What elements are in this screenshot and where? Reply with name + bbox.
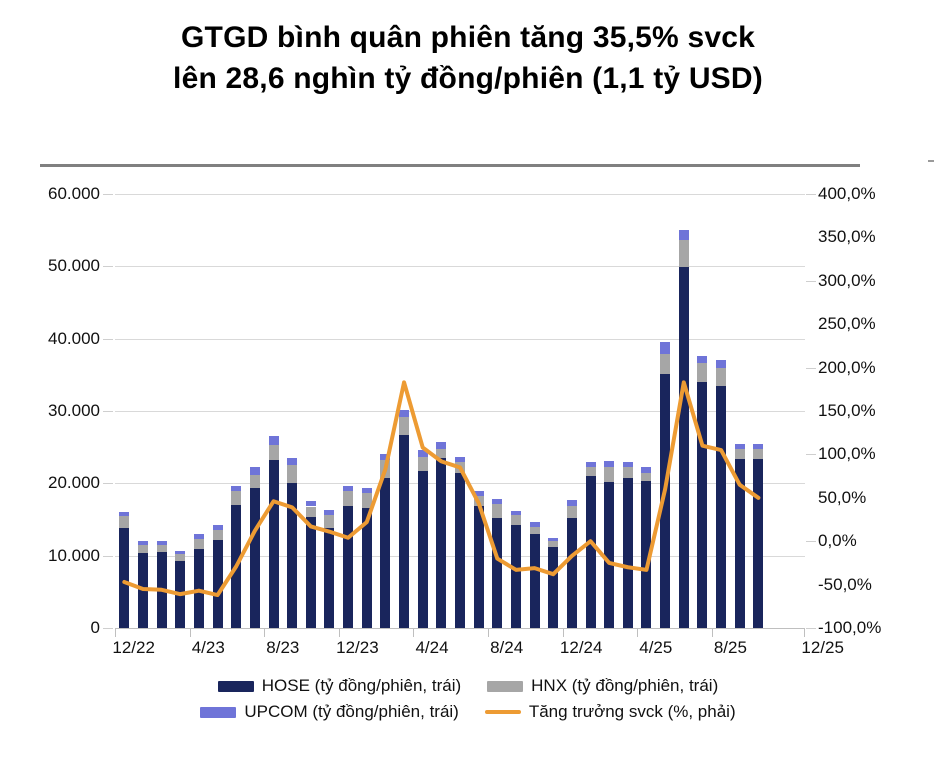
x-tick-label: 12/25: [801, 638, 844, 658]
plot-area: [115, 194, 805, 628]
y-tick-mark-right: [806, 368, 816, 369]
x-tick-label: 8/23: [266, 638, 299, 658]
x-tick-label: 4/23: [192, 638, 225, 658]
page-title: GTGD bình quân phiên tăng 35,5% svck lên…: [0, 18, 936, 99]
title-line-1: GTGD bình quân phiên tăng 35,5% svck: [45, 18, 891, 59]
chart-area: 010.00020.00030.00040.00050.00060.000 -1…: [0, 180, 936, 660]
x-tick-mark: [190, 628, 191, 637]
y-tick-label-right: 400,0%: [818, 184, 876, 204]
legend-swatch-hnx-icon: [487, 681, 523, 692]
growth-line: [124, 382, 758, 595]
y-tick-label-right: 150,0%: [818, 401, 876, 421]
y-tick-mark-right: [806, 454, 816, 455]
x-tick-mark: [637, 628, 638, 637]
legend-row-2: UPCOM (tỷ đồng/phiên, trái)Tăng trưởng s…: [0, 702, 936, 722]
y-tick-label-right: 350,0%: [818, 227, 876, 247]
legend-label: HOSE (tỷ đồng/phiên, trái): [262, 676, 461, 696]
y-tick-mark-left: [103, 339, 113, 340]
legend-label: Tăng trưởng svck (%, phải): [529, 702, 736, 722]
y-tick-label-right: 100,0%: [818, 444, 876, 464]
legend-label: UPCOM (tỷ đồng/phiên, trái): [244, 702, 458, 722]
x-tick-mark: [804, 628, 805, 637]
x-tick-mark: [339, 628, 340, 637]
legend-item-upcom[interactable]: UPCOM (tỷ đồng/phiên, trái): [200, 702, 458, 722]
y-tick-mark-left: [103, 411, 113, 412]
y-tick-mark-left: [103, 556, 113, 557]
y-tick-mark-right: [806, 541, 816, 542]
title-line-2: lên 28,6 nghìn tỷ đồng/phiên (1,1 tỷ USD…: [45, 59, 891, 100]
x-tick-mark: [413, 628, 414, 637]
legend-item-hnx[interactable]: HNX (tỷ đồng/phiên, trái): [487, 676, 718, 696]
legend-swatch-upcom-icon: [200, 707, 236, 718]
legend-swatch-growth-icon: [485, 710, 521, 714]
y-tick-label-right: -50,0%: [818, 575, 872, 595]
x-tick-mark: [264, 628, 265, 637]
legend-item-growth[interactable]: Tăng trưởng svck (%, phải): [485, 702, 736, 722]
x-tick-label: 8/25: [714, 638, 747, 658]
y-tick-mark-right: [806, 281, 816, 282]
y-tick-label-left: 30.000: [48, 401, 100, 421]
chart-page: GTGD bình quân phiên tăng 35,5% svck lên…: [0, 0, 936, 772]
y-tick-mark-right: [806, 194, 816, 195]
legend-item-hose[interactable]: HOSE (tỷ đồng/phiên, trái): [218, 676, 461, 696]
y-tick-label-right: 300,0%: [818, 271, 876, 291]
x-tick-label: 12/24: [560, 638, 603, 658]
x-tick-mark: [115, 628, 116, 637]
growth-line-layer: [115, 194, 805, 628]
y-tick-mark-left: [103, 194, 113, 195]
y-axis-left: 010.00020.00030.00040.00050.00060.000: [0, 194, 100, 628]
x-tick-label: 12/22: [112, 638, 155, 658]
y-tick-label-left: 20.000: [48, 473, 100, 493]
y-tick-label-left: 10.000: [48, 546, 100, 566]
x-tick-mark: [488, 628, 489, 637]
chart-legend: HOSE (tỷ đồng/phiên, trái)HNX (tỷ đồng/p…: [0, 676, 936, 728]
x-tick-mark: [712, 628, 713, 637]
y-tick-label-left: 60.000: [48, 184, 100, 204]
x-tick-label: 12/23: [336, 638, 379, 658]
y-tick-label-right: 0,0%: [818, 531, 857, 551]
x-tick-label: 8/24: [490, 638, 523, 658]
y-tick-label-left: 0: [91, 618, 100, 638]
y-axis-right: -100,0%-50,0%0,0%50,0%100,0%150,0%200,0%…: [818, 194, 936, 628]
legend-swatch-hose-icon: [218, 681, 254, 692]
y-tick-label-right: -100,0%: [818, 618, 881, 638]
y-tick-label-right: 50,0%: [818, 488, 866, 508]
x-tick-mark: [563, 628, 564, 637]
y-tick-mark-left: [103, 628, 113, 629]
x-tick-label: 4/24: [415, 638, 448, 658]
y-tick-mark-left: [103, 266, 113, 267]
y-tick-mark-right: [806, 628, 816, 629]
header-divider-tick: [928, 160, 934, 162]
x-axis-line: [115, 628, 805, 629]
y-tick-mark-left: [103, 483, 113, 484]
x-tick-label: 4/25: [639, 638, 672, 658]
legend-label: HNX (tỷ đồng/phiên, trái): [531, 676, 718, 696]
y-tick-label-left: 40.000: [48, 329, 100, 349]
x-axis-labels: 12/224/238/2312/234/248/2412/244/258/251…: [0, 638, 936, 668]
y-tick-label-right: 200,0%: [818, 358, 876, 378]
y-tick-label-left: 50.000: [48, 256, 100, 276]
y-tick-label-right: 250,0%: [818, 314, 876, 334]
x-axis: [115, 628, 805, 638]
header-divider: [40, 164, 860, 167]
legend-row-1: HOSE (tỷ đồng/phiên, trái)HNX (tỷ đồng/p…: [0, 676, 936, 696]
